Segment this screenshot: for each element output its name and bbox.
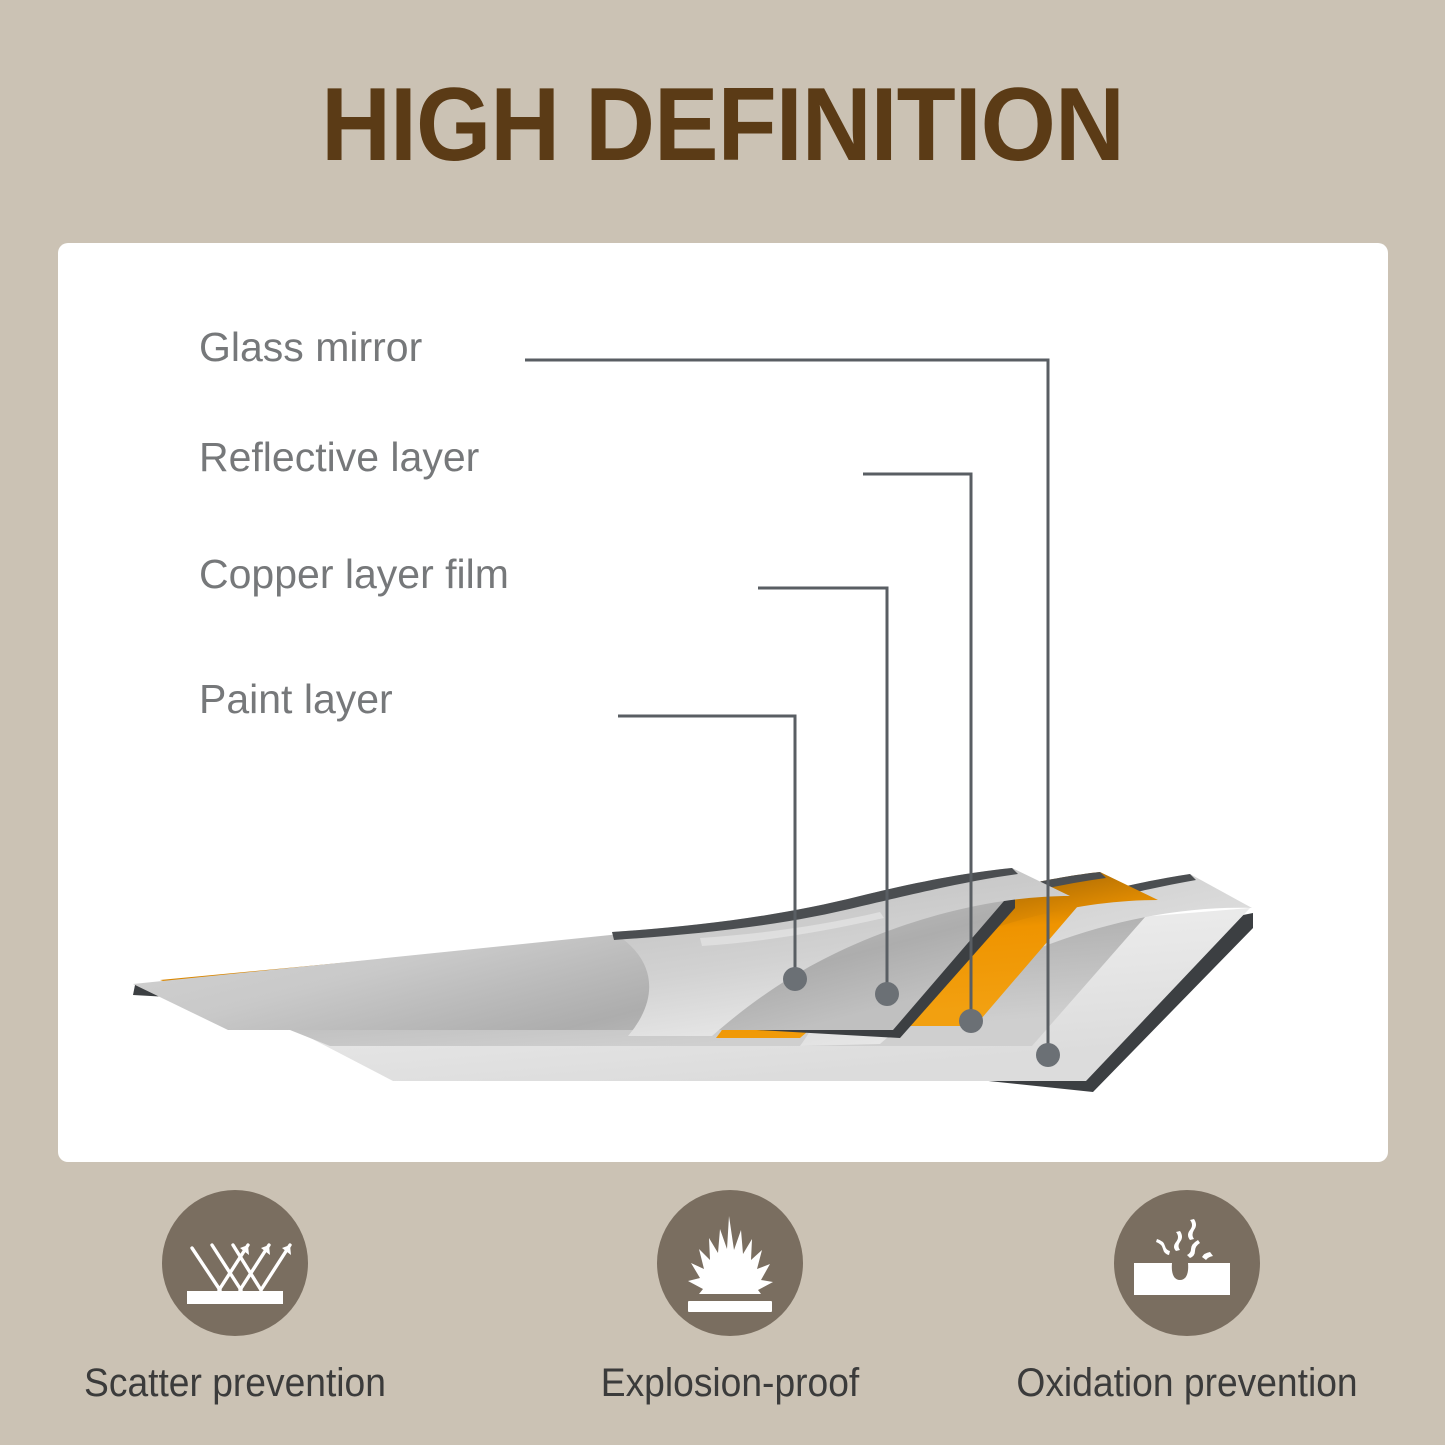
feature-explosion-proof: Explosion-proof <box>530 1190 930 1406</box>
feature-caption-scatter-prevention: Scatter prevention <box>49 1361 421 1406</box>
feature-scatter-prevention: Scatter prevention <box>35 1190 435 1406</box>
layer-label-reflective-layer: Reflective layer <box>199 434 479 481</box>
scatter-prevention-badge <box>162 1190 308 1336</box>
explosion-proof-badge <box>657 1190 803 1336</box>
oxidation-prevention-badge <box>1114 1190 1260 1336</box>
feature-caption-oxidation-prevention: Oxidation prevention <box>1001 1361 1373 1406</box>
feature-oxidation-prevention: Oxidation prevention <box>987 1190 1387 1406</box>
scatter-prevention-icon <box>162 1190 308 1336</box>
infographic-page: HIGH DEFINITION Glass mirror Reflective … <box>0 0 1445 1445</box>
feature-caption-explosion-proof: Explosion-proof <box>544 1361 916 1406</box>
page-title: HIGH DEFINITION <box>51 66 1395 185</box>
explosion-proof-icon <box>657 1190 803 1336</box>
layer-label-glass-mirror: Glass mirror <box>199 324 422 371</box>
oxidation-prevention-icon <box>1114 1190 1260 1336</box>
layer-label-copper-layer-film: Copper layer film <box>199 551 509 598</box>
layer-label-paint-layer: Paint layer <box>199 676 393 723</box>
feature-row: Scatter prevention Explosion-proof <box>0 1190 1445 1445</box>
